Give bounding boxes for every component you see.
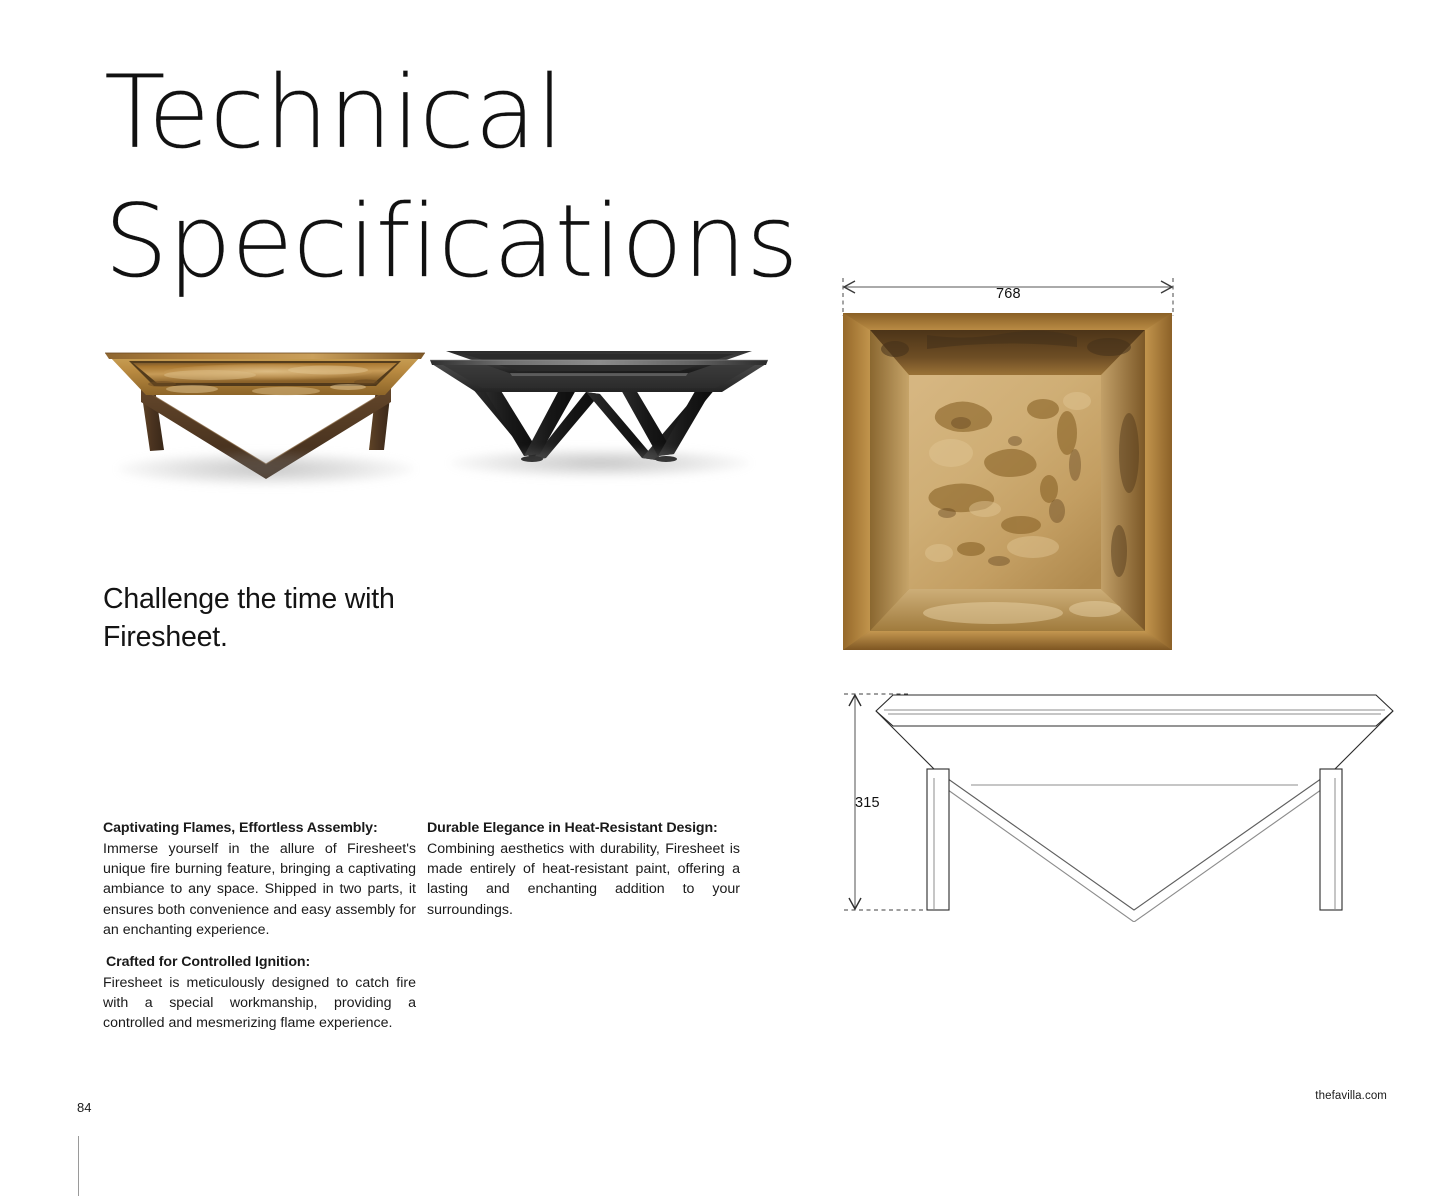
technical-drawing-side-elevation <box>838 686 1398 922</box>
feature-heading: Crafted for Controlled Ignition: <box>106 952 416 972</box>
product-photo-rust-angled <box>100 312 430 492</box>
page-title: Technical Specifications <box>104 48 744 307</box>
feature-block-durable-elegance: Durable Elegance in Heat-Resistant Desig… <box>427 818 740 920</box>
product-photo-black-angled <box>424 330 774 485</box>
subheading-line-1: Challenge the time with <box>103 580 523 618</box>
rust-topdown-illustration <box>843 313 1172 650</box>
feature-body: Immerse yourself in the allure of Firesh… <box>103 839 416 940</box>
subheading-line-2: Firesheet. <box>103 618 523 656</box>
photo-shadow <box>118 452 414 486</box>
section-subheading: Challenge the time with Firesheet. <box>103 580 523 656</box>
footer-vertical-rule <box>78 1136 79 1196</box>
page-title-line-1: Technical <box>104 48 744 177</box>
feature-block-controlled-ignition: Crafted for Controlled Ignition: Fireshe… <box>103 952 416 1034</box>
photo-shadow <box>450 448 750 478</box>
feature-body: Combining aesthetics with durability, Fi… <box>427 839 740 920</box>
page-title-line-2: Specifications <box>104 177 744 306</box>
dimension-label-height: 315 <box>855 795 880 811</box>
feature-heading: Durable Elegance in Heat-Resistant Desig… <box>427 818 740 838</box>
product-photo-rust-topdown <box>843 313 1172 650</box>
feature-block-captivating-flames: Captivating Flames, Effortless Assembly:… <box>103 818 416 940</box>
site-url: thefavilla.com <box>1315 1090 1387 1102</box>
page-number: 84 <box>77 1100 91 1115</box>
dimension-label-width: 768 <box>996 286 1021 302</box>
feature-heading: Captivating Flames, Effortless Assembly: <box>103 818 416 838</box>
feature-body: Firesheet is meticulously designed to ca… <box>103 973 416 1033</box>
